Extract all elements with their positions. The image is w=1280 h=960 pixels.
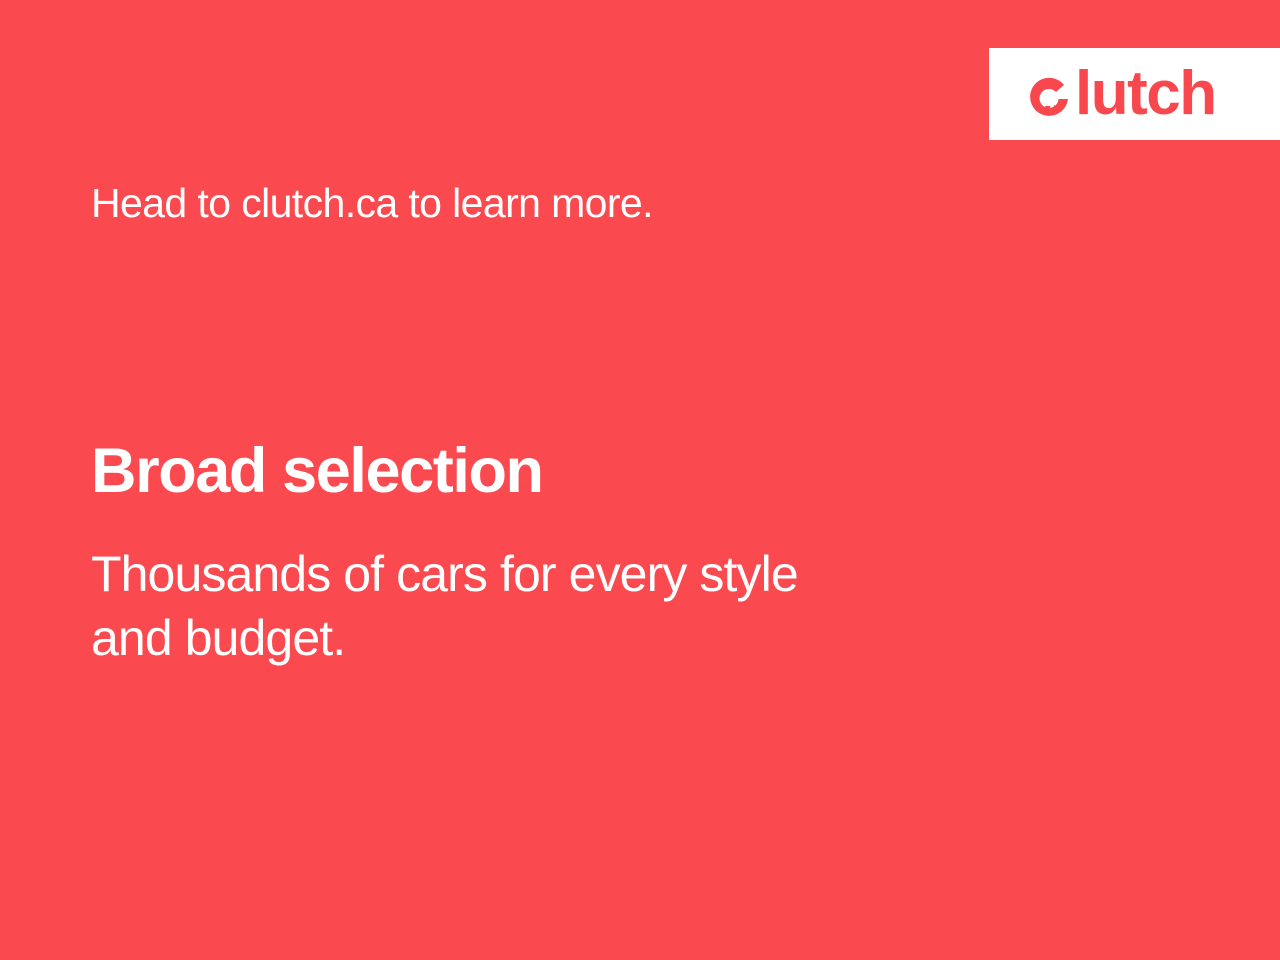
promo-slide: lutch Head to clutch.ca to learn more. B…	[0, 0, 1280, 960]
clutch-plate-icon	[1025, 71, 1075, 121]
clutch-logo-lockup: lutch	[1025, 63, 1216, 125]
cta-eyebrow-text: Head to clutch.ca to learn more.	[91, 180, 653, 227]
clutch-wordmark: lutch	[1075, 63, 1216, 125]
brand-logo-plate: lutch	[989, 48, 1280, 140]
subheadline-line-1: Thousands of cars for every style	[91, 542, 798, 606]
subheadline: Thousands of cars for every style and bu…	[91, 542, 798, 670]
subheadline-line-2: and budget.	[91, 606, 798, 670]
headline: Broad selection	[91, 437, 543, 506]
